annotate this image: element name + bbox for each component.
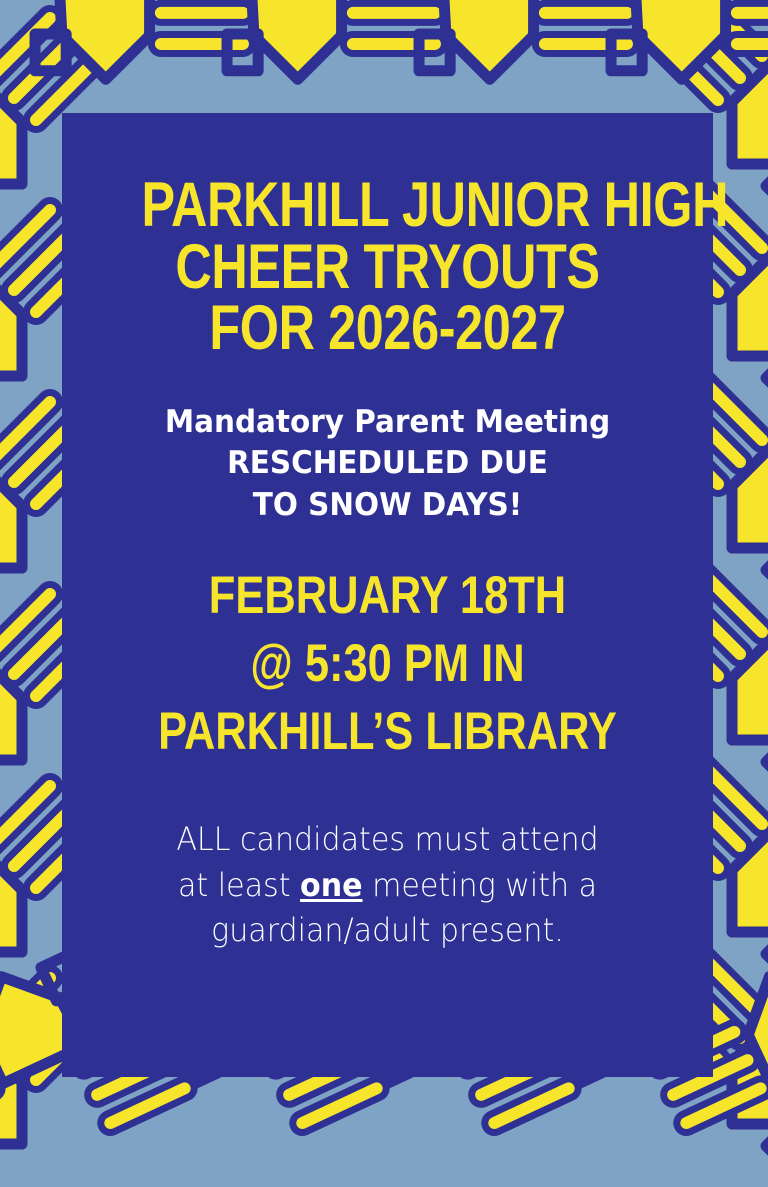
headline-line-1: PARKHILL JUNIOR HIGH	[142, 175, 634, 237]
note-line-2-before: at least	[178, 866, 300, 904]
note-emphasis-word: one	[300, 866, 362, 904]
subheading-line-2: RESCHEDULED DUE	[95, 443, 679, 484]
note-line-3: guardian/adult present.	[98, 908, 676, 953]
note-line-1: ALL candidates must attend	[98, 817, 676, 862]
headline-line-2: CHEER TRYOUTS	[142, 237, 634, 299]
subheading: Mandatory Parent Meeting RESCHEDULED DUE…	[95, 360, 679, 526]
event-time: @ 5:30 PM IN	[135, 630, 639, 698]
headline-line-3: FOR 2026-2027	[142, 298, 634, 360]
poster: PARKHILL JUNIOR HIGH CHEER TRYOUTS FOR 2…	[0, 0, 768, 1187]
attendance-note: ALL candidates must attend at least one …	[98, 765, 676, 953]
event-date: FEBRUARY 18TH	[135, 562, 639, 630]
note-line-2-after: meeting with a	[363, 866, 598, 904]
page-title: PARKHILL JUNIOR HIGH CHEER TRYOUTS FOR 2…	[142, 113, 634, 360]
event-location: PARKHILL’S LIBRARY	[135, 698, 639, 766]
subheading-line-1: Mandatory Parent Meeting	[95, 402, 679, 443]
content-panel: PARKHILL JUNIOR HIGH CHEER TRYOUTS FOR 2…	[62, 113, 713, 1077]
note-line-2: at least one meeting with a	[98, 863, 676, 908]
event-details: FEBRUARY 18TH @ 5:30 PM IN PARKHILL’S LI…	[135, 526, 639, 765]
subheading-line-3: TO SNOW DAYS!	[95, 485, 679, 526]
